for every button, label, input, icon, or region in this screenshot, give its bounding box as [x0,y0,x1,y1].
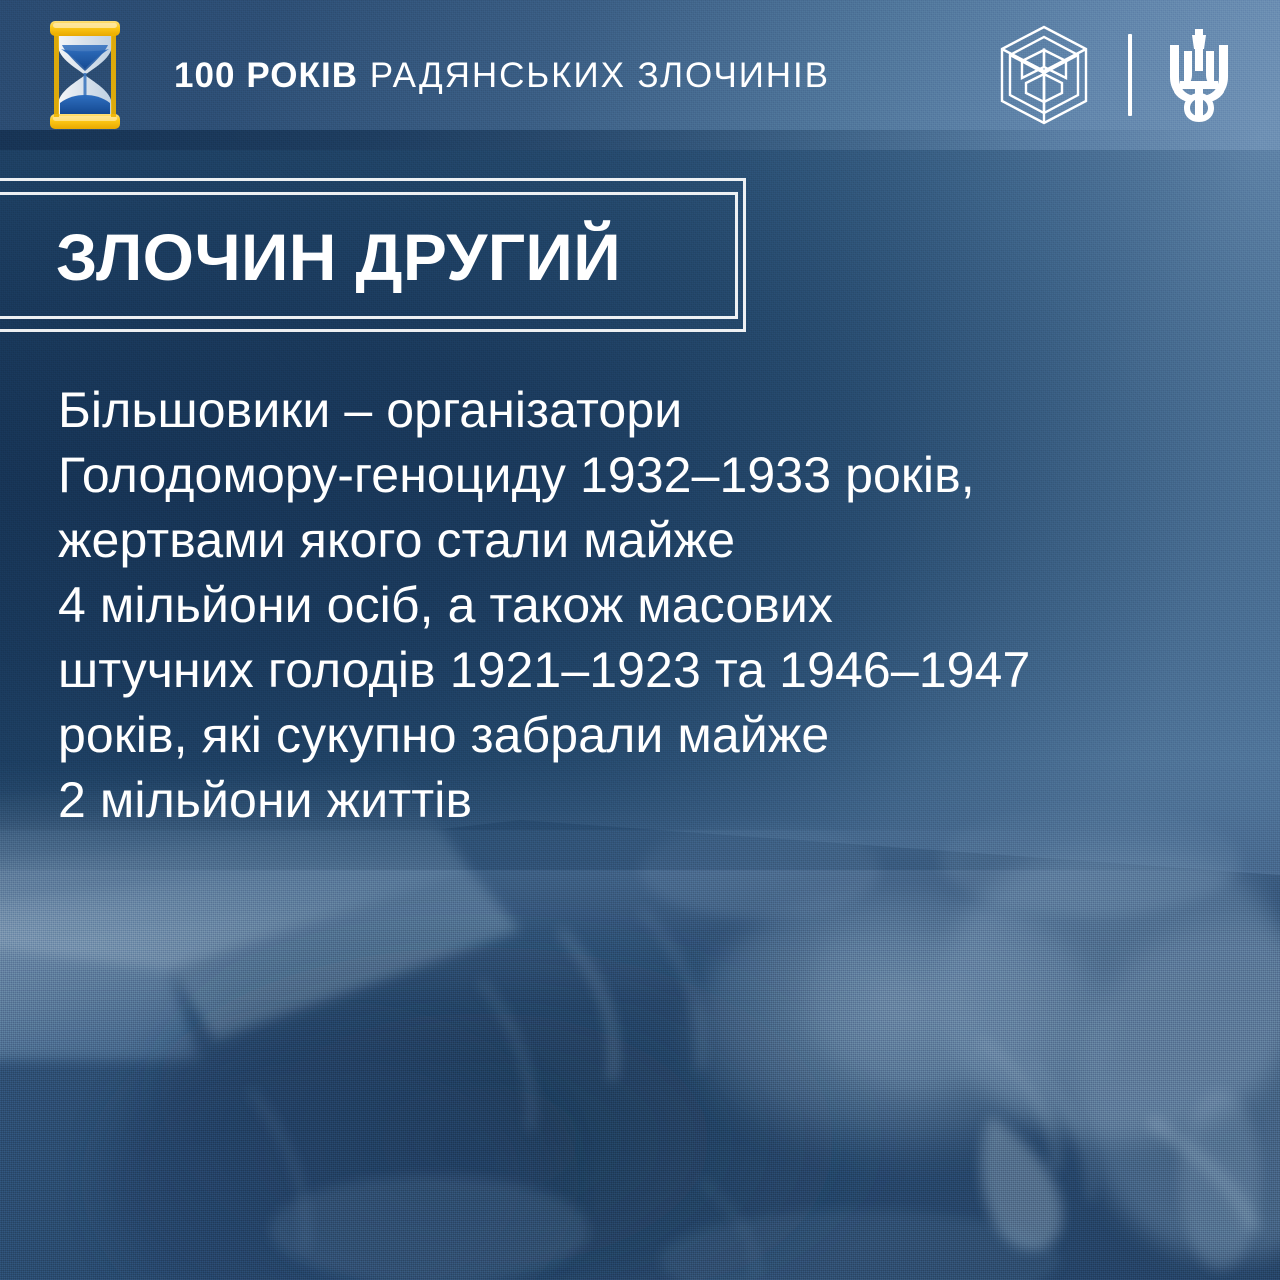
cube-logo-icon [996,23,1092,127]
body-line: років, які сукупно забрали майже [58,703,1238,768]
hourglass-icon [42,19,128,131]
header-title: 100 РОКІВ РАДЯНСЬКИХ ЗЛОЧИНІВ [174,58,830,93]
poster-header: 100 РОКІВ РАДЯНСЬКИХ ЗЛОЧИНІВ [0,0,1280,150]
logo-divider [1128,34,1132,116]
body-line: штучних голодів 1921–1923 та 1946–1947 [58,638,1238,703]
page-title: ЗЛОЧИН ДРУГИЙ [56,224,621,290]
poster-canvas: 100 РОКІВ РАДЯНСЬКИХ ЗЛОЧИНІВ [0,0,1280,1280]
body-line: 2 мільйони життів [58,768,1238,833]
body-line: жертвами якого стали майже [58,508,1238,573]
body-line: Голодомору-геноциду 1932–1933 років, [58,443,1238,508]
ukrainian-trident-icon [1168,27,1230,123]
crime-title-block: ЗЛОЧИН ДРУГИЙ [0,178,750,336]
body-line: 4 мільйони осіб, а також масових [58,573,1238,638]
header-title-rest: РАДЯНСЬКИХ ЗЛОЧИНІВ [358,56,830,95]
body-text: Більшовики – організатори Голодомору-ген… [58,378,1238,833]
body-line: Більшовики – організатори [58,378,1238,443]
header-title-bold: 100 РОКІВ [174,56,358,95]
